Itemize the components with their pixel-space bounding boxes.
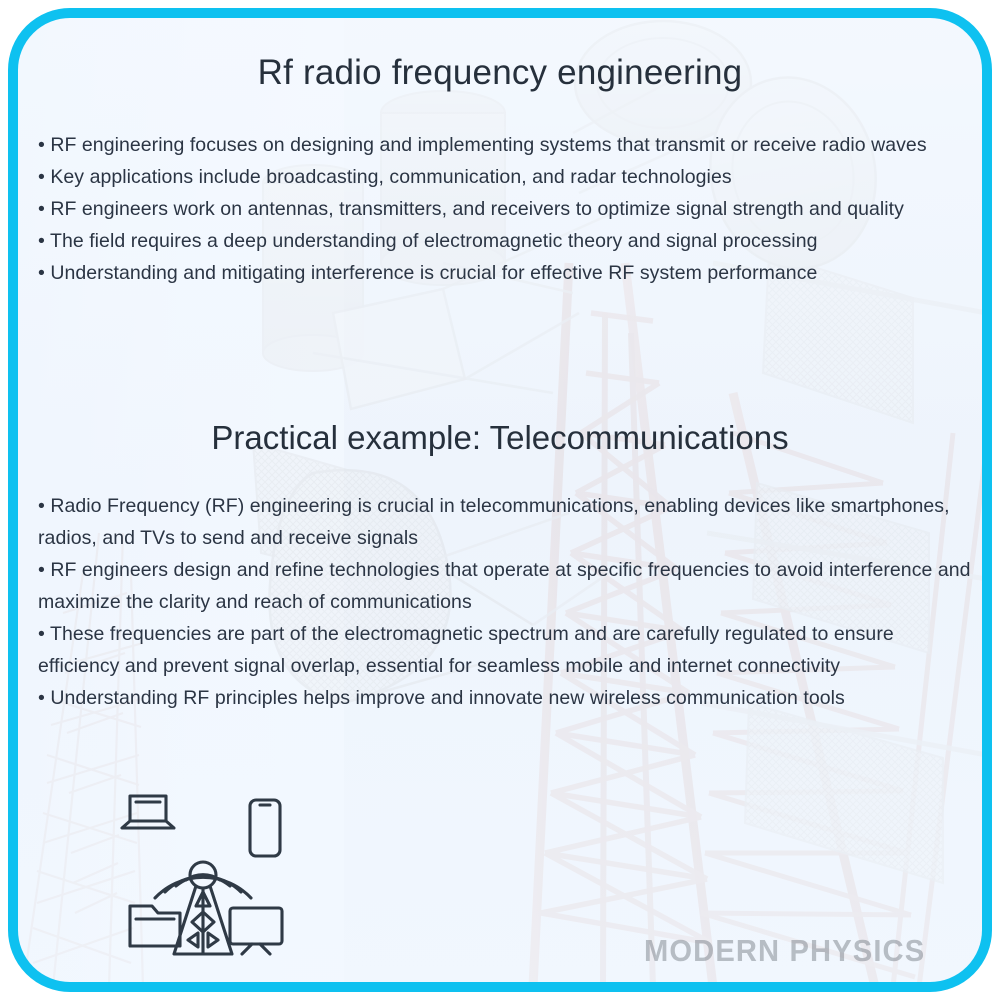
list-item: • Radio Frequency (RF) engineering is cr… xyxy=(38,490,974,554)
slide-root: Rf radio frequency engineering • RF engi… xyxy=(0,0,1000,1000)
list-item: • The field requires a deep understandin… xyxy=(38,225,974,257)
list-item: • These frequencies are part of the elec… xyxy=(38,618,974,682)
bullet-list-two: • Radio Frequency (RF) engineering is cr… xyxy=(38,490,974,714)
list-item: • Understanding and mitigating interfere… xyxy=(38,257,974,289)
page-title: Rf radio frequency engineering xyxy=(13,52,987,94)
list-item: • RF engineering focuses on designing an… xyxy=(38,129,974,161)
section-subtitle: Practical example: Telecommunications xyxy=(13,417,987,458)
bullet-list-one: • RF engineering focuses on designing an… xyxy=(38,129,974,289)
laptop-icon xyxy=(122,796,174,828)
list-item: • RF engineers design and refine technol… xyxy=(38,554,974,618)
watermark-modern-physics: Modern Physics xyxy=(644,933,925,969)
slide-canvas: Rf radio frequency engineering • RF engi… xyxy=(13,13,987,987)
television-icon xyxy=(230,908,282,954)
smartphone-icon xyxy=(250,800,280,856)
list-item: • Key applications include broadcasting,… xyxy=(38,161,974,193)
list-item: • RF engineers work on antennas, transmi… xyxy=(38,193,974,225)
slide-content: Rf radio frequency engineering • RF engi… xyxy=(13,13,987,987)
list-item: • Understanding RF principles helps impr… xyxy=(38,682,974,714)
folder-icon xyxy=(130,906,180,946)
broadcast-tower-devices-icon xyxy=(108,788,298,958)
